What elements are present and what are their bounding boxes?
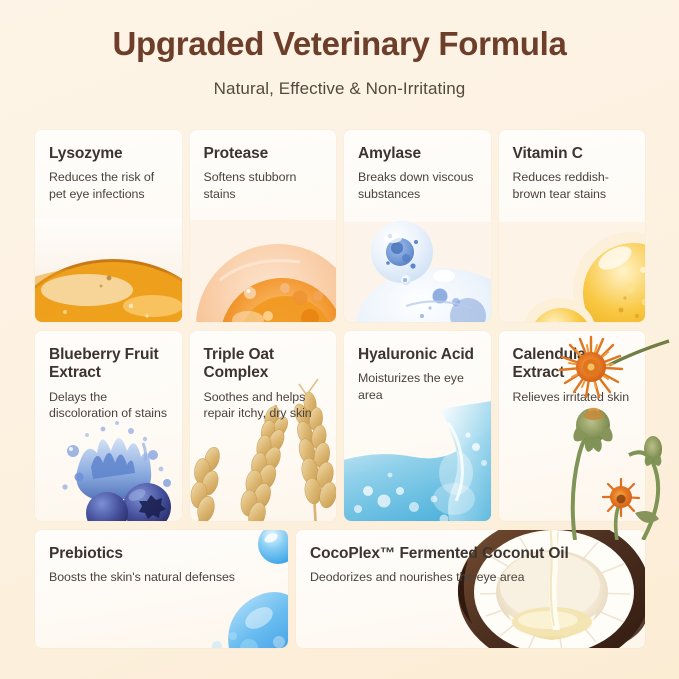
ingredient-card-blueberry-fruit-extract[interactable]: Blueberry Fruit Extract Delays the disco… — [35, 331, 182, 521]
infographic-page: Upgraded Veterinary Formula Natural, Eff… — [0, 0, 679, 679]
card-title: Triple Oat Complex — [204, 346, 323, 383]
ingredient-row-3: Prebiotics Boosts the skin's natural def… — [35, 530, 645, 648]
card-description: Reduces the risk of pet eye infections — [49, 169, 168, 202]
card-title: CocoPlex™ Fermented Coconut Oil — [310, 545, 631, 563]
card-title: Blueberry Fruit Extract — [49, 346, 168, 383]
page-title: Upgraded Veterinary Formula — [0, 26, 679, 62]
ingredient-card-amylase[interactable]: Amylase Breaks down viscous substances — [344, 130, 491, 322]
card-description: Delays the discoloration of stains — [49, 389, 168, 422]
card-description: Deodorizes and nourishes the eye area — [310, 569, 631, 586]
ingredient-card-protease[interactable]: Protease Softens stubborn stains — [190, 130, 337, 322]
ingredient-card-hyaluronic-acid[interactable]: Hyaluronic Acid Moisturizes the eye area — [344, 331, 491, 521]
header: Upgraded Veterinary Formula Natural, Eff… — [0, 0, 679, 99]
card-title: Hyaluronic Acid — [358, 346, 477, 364]
page-subtitle: Natural, Effective & Non-Irritating — [0, 79, 679, 99]
ingredient-card-vitamin-c[interactable]: Vitamin C Reduces reddish-brown tear sta… — [499, 130, 646, 322]
ingredient-row-2: Blueberry Fruit Extract Delays the disco… — [35, 331, 645, 521]
card-title: Lysozyme — [49, 145, 168, 163]
card-description: Relieves irritated skin — [513, 389, 632, 406]
card-title: Vitamin C — [513, 145, 632, 163]
ingredient-card-calendula-extract[interactable]: Calendula Extract Relieves irritated ski… — [499, 331, 646, 521]
card-title: Calendula Extract — [513, 346, 632, 383]
card-description: Reduces reddish-brown tear stains — [513, 169, 632, 202]
ingredient-card-triple-oat-complex[interactable]: Triple Oat Complex Soothes and helps rep… — [190, 331, 337, 521]
ingredient-card-prebiotics[interactable]: Prebiotics Boosts the skin's natural def… — [35, 530, 288, 648]
card-title: Prebiotics — [49, 545, 274, 563]
card-title: Protease — [204, 145, 323, 163]
card-description: Soothes and helps repair itchy, dry skin — [204, 389, 323, 422]
ingredient-card-lysozyme[interactable]: Lysozyme Reduces the risk of pet eye inf… — [35, 130, 182, 322]
card-description: Softens stubborn stains — [204, 169, 323, 202]
card-description: Boosts the skin's natural defenses — [49, 569, 274, 586]
ingredient-card-cocoplex-fermented-coconut-oil[interactable]: CocoPlex™ Fermented Coconut Oil Deodoriz… — [296, 530, 645, 648]
ingredient-row-1: Lysozyme Reduces the risk of pet eye inf… — [35, 130, 645, 322]
card-title: Amylase — [358, 145, 477, 163]
card-description: Breaks down viscous substances — [358, 169, 477, 202]
ingredient-grid: Lysozyme Reduces the risk of pet eye inf… — [35, 130, 645, 657]
card-description: Moisturizes the eye area — [358, 370, 477, 403]
